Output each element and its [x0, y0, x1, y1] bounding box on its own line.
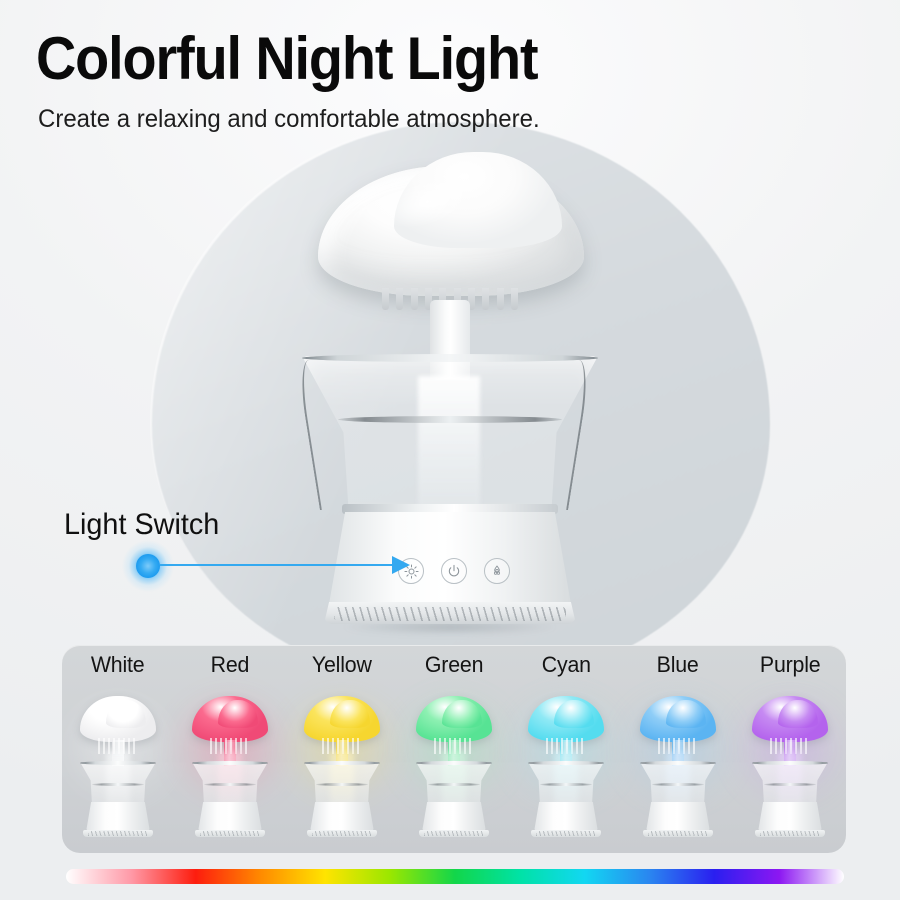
swatch-vents: [312, 831, 372, 836]
rain-nozzle: [497, 288, 504, 310]
swatch-base: [310, 802, 374, 832]
swatch-tank-rim: [192, 761, 268, 765]
swatch-vents: [200, 831, 260, 836]
rain-nozzle: [396, 288, 403, 310]
page-subtitle: Create a relaxing and comfortable atmosp…: [38, 104, 540, 134]
color-swatch: Blue: [622, 645, 734, 853]
swatch-cap-dome: [554, 700, 594, 728]
power-icon: [447, 564, 461, 578]
swatch-water-line: [540, 783, 592, 786]
mist-column: [418, 376, 480, 524]
mist-droplet-icon: [490, 564, 504, 578]
power-button[interactable]: [441, 558, 467, 584]
color-swatch-product: [296, 682, 388, 842]
light-switch-callout-label: Light Switch: [64, 508, 219, 542]
color-swatch: Red: [174, 645, 286, 853]
swatch-cap-dome: [778, 700, 818, 728]
color-swatch-product: [72, 682, 164, 842]
callout-dot-core: [136, 554, 160, 578]
swatch-vents: [424, 831, 484, 836]
swatch-vents: [88, 831, 148, 836]
product-feature-image: Colorful Night Light Create a relaxing a…: [0, 0, 900, 900]
color-options-panel: WhiteRedYellowGreenCyanBluePurple: [62, 645, 846, 853]
swatch-base: [422, 802, 486, 832]
color-swatch-product: [632, 682, 724, 842]
swatch-base: [86, 802, 150, 832]
swatch-water-line: [316, 783, 368, 786]
water-tank-rim: [302, 354, 598, 362]
swatch-tank-rim: [640, 761, 716, 765]
callout-arrow-icon: [392, 556, 410, 574]
swatch-tank-rim: [528, 761, 604, 765]
base-air-vents: [334, 607, 566, 621]
control-button-group: [398, 558, 510, 584]
color-swatch-label: Purple: [760, 652, 821, 678]
rain-nozzle: [511, 288, 518, 310]
rain-nozzle: [482, 288, 489, 310]
swatch-tank-rim: [752, 761, 828, 765]
color-gradient-bar: [66, 869, 844, 884]
water-level-line: [338, 416, 562, 423]
color-swatch-product: [520, 682, 612, 842]
swatch-base: [646, 802, 710, 832]
swatch-base: [534, 802, 598, 832]
swatch-base: [198, 802, 262, 832]
swatch-water-line: [204, 783, 256, 786]
page-title: Colorful Night Light: [36, 28, 537, 90]
color-swatch: Green: [398, 645, 510, 853]
color-swatch-label: Yellow: [312, 652, 372, 678]
swatch-vents: [760, 831, 820, 836]
swatch-cap-dome: [330, 700, 370, 728]
swatch-cap-dome: [666, 700, 706, 728]
swatch-water-line: [764, 783, 816, 786]
color-swatch-product: [184, 682, 276, 842]
color-swatch-label: Green: [425, 652, 483, 678]
color-swatch: Yellow: [286, 645, 398, 853]
swatch-base: [758, 802, 822, 832]
color-swatch: White: [62, 645, 174, 853]
color-swatch: Purple: [734, 645, 846, 853]
swatch-vents: [536, 831, 596, 836]
color-swatch: Cyan: [510, 645, 622, 853]
swatch-cap-dome: [442, 700, 482, 728]
color-swatch-label: White: [91, 652, 145, 678]
swatch-water-line: [428, 783, 480, 786]
swatch-cap-dome: [218, 700, 258, 728]
color-swatch-label: Red: [211, 652, 250, 678]
swatch-tank-rim: [304, 761, 380, 765]
rain-nozzle: [411, 288, 418, 310]
swatch-water-line: [92, 783, 144, 786]
swatch-cap-dome: [106, 700, 146, 728]
color-swatch-product: [744, 682, 836, 842]
color-swatch-list: WhiteRedYellowGreenCyanBluePurple: [62, 645, 846, 853]
mushroom-cap: [318, 166, 584, 296]
color-swatch-product: [408, 682, 500, 842]
product-hero-image: [290, 160, 610, 630]
swatch-tank-rim: [416, 761, 492, 765]
rain-nozzle: [382, 288, 389, 310]
callout-leader-line: [160, 564, 398, 566]
swatch-tank-rim: [80, 761, 156, 765]
swatch-water-line: [652, 783, 704, 786]
swatch-vents: [648, 831, 708, 836]
color-swatch-label: Cyan: [541, 652, 590, 678]
color-swatch-label: Blue: [657, 652, 699, 678]
mist-button[interactable]: [484, 558, 510, 584]
